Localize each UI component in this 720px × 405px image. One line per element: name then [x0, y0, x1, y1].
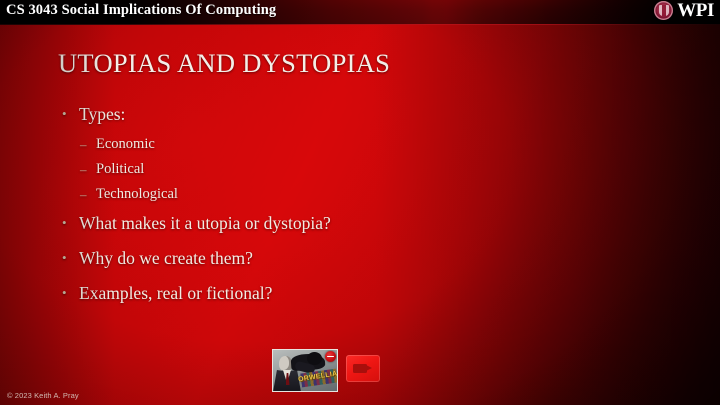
slide-title: UTOPIAS AND DYSTOPIAS: [58, 48, 390, 79]
sub-bullet-group: – Economic – Political – Technological: [58, 136, 658, 203]
orwellian-image-thumbnail[interactable]: ORWELLIAN: [272, 349, 338, 392]
dash-marker-icon: –: [80, 186, 96, 203]
wpi-wordmark: WPI: [677, 1, 714, 20]
course-title: CS 3043 Social Implications Of Computing: [6, 2, 276, 19]
bullet-item: • What makes it a utopia or dystopia?: [58, 213, 658, 233]
wpi-seal-icon: [654, 1, 673, 20]
presentation-slide: CS 3043 Social Implications Of Computing…: [0, 0, 720, 405]
copyright-footer: © 2023 Keith A. Pray: [7, 391, 79, 400]
bullet-item: • Why do we create them?: [58, 248, 658, 268]
bullet-text: Examples, real or fictional?: [79, 283, 272, 303]
block-minus-badge-icon[interactable]: [325, 351, 336, 362]
bullet-marker-icon: •: [62, 283, 79, 303]
surveillance-camera-head: [307, 352, 322, 365]
bullet-item: • Types:: [58, 104, 658, 124]
bullet-text: Types:: [79, 104, 125, 124]
bullet-marker-icon: •: [62, 213, 79, 233]
dash-marker-icon: –: [80, 136, 96, 153]
sub-bullet-text: Economic: [96, 136, 155, 153]
video-camera-body-shape: [353, 364, 367, 373]
video-camera-lens-shape: [366, 365, 372, 371]
sub-bullet-item: – Economic: [58, 136, 658, 153]
bullet-marker-icon: •: [62, 248, 79, 268]
sub-bullet-item: – Technological: [58, 186, 658, 203]
bullet-item: • Examples, real or fictional?: [58, 283, 658, 303]
slide-body: • Types: – Economic – Political – Techno…: [58, 104, 658, 315]
sub-bullet-text: Technological: [96, 186, 178, 203]
media-objects: ORWELLIAN: [272, 349, 380, 392]
bullet-text: What makes it a utopia or dystopia?: [79, 213, 331, 233]
wpi-brand: WPI: [654, 1, 714, 20]
figure-head-shape: [279, 356, 292, 371]
dash-marker-icon: –: [80, 161, 96, 178]
sub-bullet-item: – Political: [58, 161, 658, 178]
sub-bullet-text: Political: [96, 161, 144, 178]
video-camera-icon[interactable]: [346, 355, 380, 382]
bullet-marker-icon: •: [62, 104, 79, 124]
bullet-text: Why do we create them?: [79, 248, 253, 268]
